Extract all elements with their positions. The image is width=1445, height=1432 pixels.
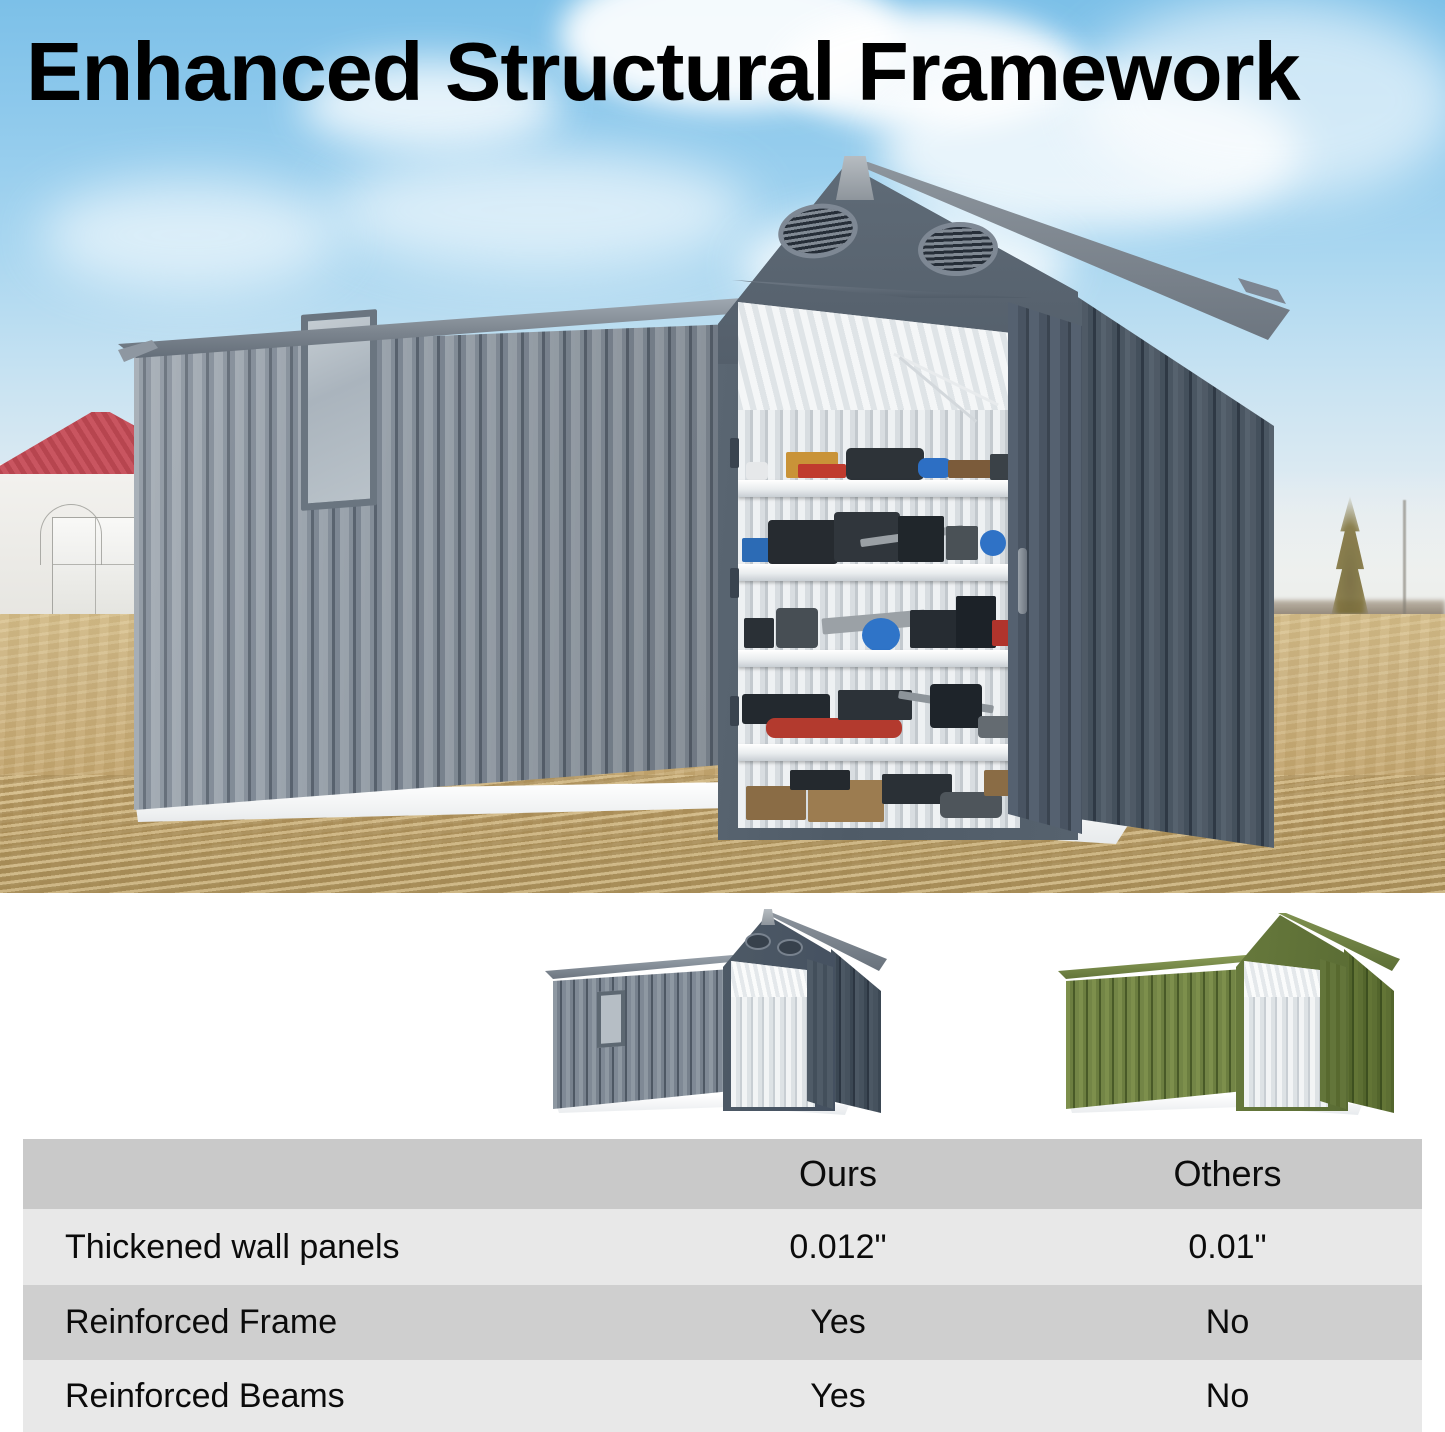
table-header-row: Ours Others [23, 1139, 1422, 1209]
row-others-value: No [1033, 1303, 1422, 1342]
row-feature-label: Reinforced Beams [23, 1377, 643, 1416]
shelf [738, 744, 1020, 761]
others-shed-thumbnail [1058, 907, 1398, 1122]
shelf-items-row [742, 770, 1016, 826]
shelf [738, 564, 1020, 581]
row-ours-value: Yes [643, 1377, 1033, 1416]
row-others-value: No [1033, 1377, 1422, 1416]
shelf [738, 650, 1020, 667]
shed-right-wall [1058, 276, 1274, 848]
table-row: Thickened wall panels 0.012" 0.01" [23, 1209, 1422, 1285]
comparison-thumbnails [0, 893, 1445, 1132]
door-handle [1018, 548, 1027, 614]
row-ours-value: Yes [643, 1303, 1033, 1342]
table-row: Reinforced Beams Yes No [23, 1360, 1422, 1432]
shelf-items-row [742, 590, 1016, 652]
thumb-door-opening [1244, 957, 1328, 1107]
shed-door-opening [738, 292, 1020, 828]
main-shed [118, 148, 1278, 868]
thumb-door-panel [807, 959, 833, 1109]
utility-pole [1403, 500, 1406, 620]
header-ours-cell: Ours [643, 1153, 1033, 1195]
row-feature-label: Thickened wall panels [23, 1228, 643, 1267]
shelf-items-row [742, 676, 1016, 746]
table-row: Reinforced Frame Yes No [23, 1285, 1422, 1360]
row-others-value: 0.01" [1033, 1228, 1422, 1267]
thumb-left-wall [1066, 969, 1244, 1109]
thumb-ridge-cap [761, 909, 775, 925]
door-hinge [730, 568, 739, 598]
shelf-items-row [742, 506, 1016, 566]
hero-image [0, 0, 1445, 893]
thumb-gable-vent-icon [777, 939, 803, 956]
shed-left-wall-shading [134, 324, 734, 810]
shelf [738, 480, 1020, 497]
door-hinge [730, 438, 739, 468]
row-feature-label: Reinforced Frame [23, 1303, 643, 1342]
thumb-left-wall [553, 969, 731, 1109]
thumb-gable-vent-icon [745, 933, 771, 950]
thumb-door-panel [1320, 959, 1346, 1109]
gable-vent-right-icon [917, 220, 1000, 278]
row-ours-value: 0.012" [643, 1228, 1033, 1267]
page-title: Enhanced Structural Framework [26, 24, 1300, 120]
shelf-items-row [742, 448, 1016, 482]
thumb-door-opening [731, 957, 815, 1107]
thumb-right-wall [831, 947, 881, 1113]
thumb-right-wall [1344, 947, 1394, 1113]
ours-shed-thumbnail [545, 907, 885, 1122]
header-others-cell: Others [1033, 1153, 1422, 1195]
greenhouse-arch [40, 504, 102, 565]
comparison-table: Ours Others Thickened wall panels 0.012"… [23, 1139, 1422, 1432]
thumb-window [597, 990, 625, 1048]
door-hinge [730, 696, 739, 726]
